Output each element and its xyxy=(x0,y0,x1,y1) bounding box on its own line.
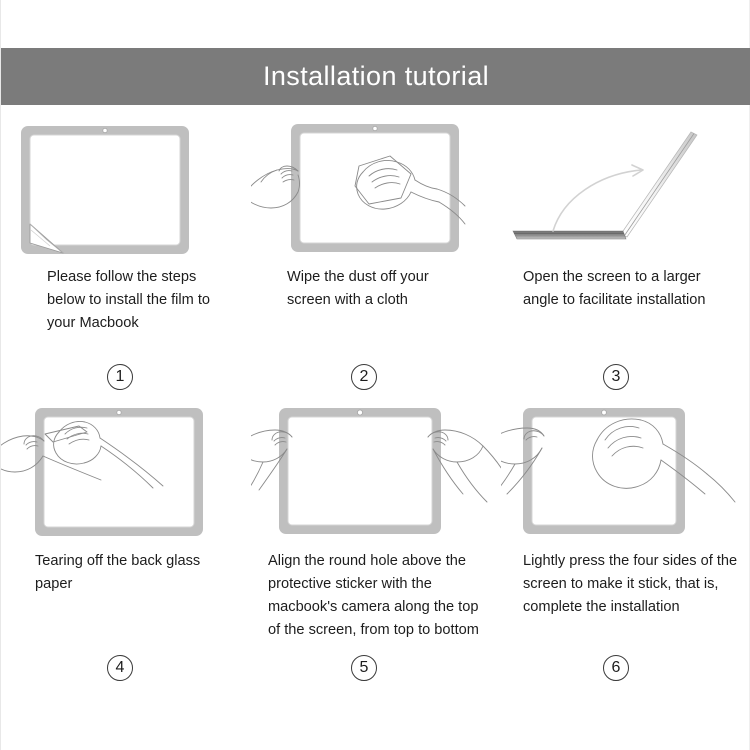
step-2-illustration xyxy=(251,112,501,260)
steps-grid: Please follow the steps below to install… xyxy=(1,112,750,700)
step-3-illustration xyxy=(501,112,750,260)
steps-row-1: Please follow the steps below to install… xyxy=(1,112,750,400)
step-card-4: Tearing off the back glass paper 4 xyxy=(1,400,251,700)
step-2-caption: Wipe the dust off your screen with a clo… xyxy=(287,266,487,312)
step-1-caption: Please follow the steps below to install… xyxy=(47,266,239,335)
macbook-screen-with-peeling-film-corner-icon xyxy=(1,112,251,260)
steps-row-2: Tearing off the back glass paper 4 xyxy=(1,400,750,700)
step-5-illustration xyxy=(251,400,501,548)
page-banner: Installation tutorial xyxy=(1,48,750,105)
hand-wiping-screen-with-cloth-icon xyxy=(251,112,501,260)
laptop-side-view-opening-lid-with-arrow-icon xyxy=(501,112,750,260)
step-badge-6: 6 xyxy=(603,655,629,681)
step-1-illustration xyxy=(1,112,251,260)
step-3-caption: Open the screen to a larger angle to fac… xyxy=(523,266,733,312)
step-badge-4: 4 xyxy=(107,655,133,681)
step-badge-3: 3 xyxy=(603,364,629,390)
step-4-illustration xyxy=(1,400,251,548)
page-title: Installation tutorial xyxy=(263,63,489,90)
hands-pressing-four-sides-of-screen-icon xyxy=(501,400,750,548)
step-card-3: Open the screen to a larger angle to fac… xyxy=(501,112,750,400)
step-5-caption: Align the round hole above the protectiv… xyxy=(268,550,494,642)
step-card-1: Please follow the steps below to install… xyxy=(1,112,251,400)
two-hands-aligning-film-over-camera-hole-icon xyxy=(251,400,501,548)
step-badge-2: 2 xyxy=(351,364,377,390)
step-card-2: Wipe the dust off your screen with a clo… xyxy=(251,112,501,400)
installation-tutorial-page: Installation tutorial Ple xyxy=(0,0,750,750)
step-6-illustration xyxy=(501,400,750,548)
step-badge-1: 1 xyxy=(107,364,133,390)
step-card-5: Align the round hole above the protectiv… xyxy=(251,400,501,700)
step-6-caption: Lightly press the four sides of the scre… xyxy=(523,550,750,619)
hand-tearing-back-glass-paper-icon xyxy=(1,400,251,548)
step-4-caption: Tearing off the back glass paper xyxy=(35,550,235,596)
step-badge-5: 5 xyxy=(351,655,377,681)
step-card-6: Lightly press the four sides of the scre… xyxy=(501,400,750,700)
